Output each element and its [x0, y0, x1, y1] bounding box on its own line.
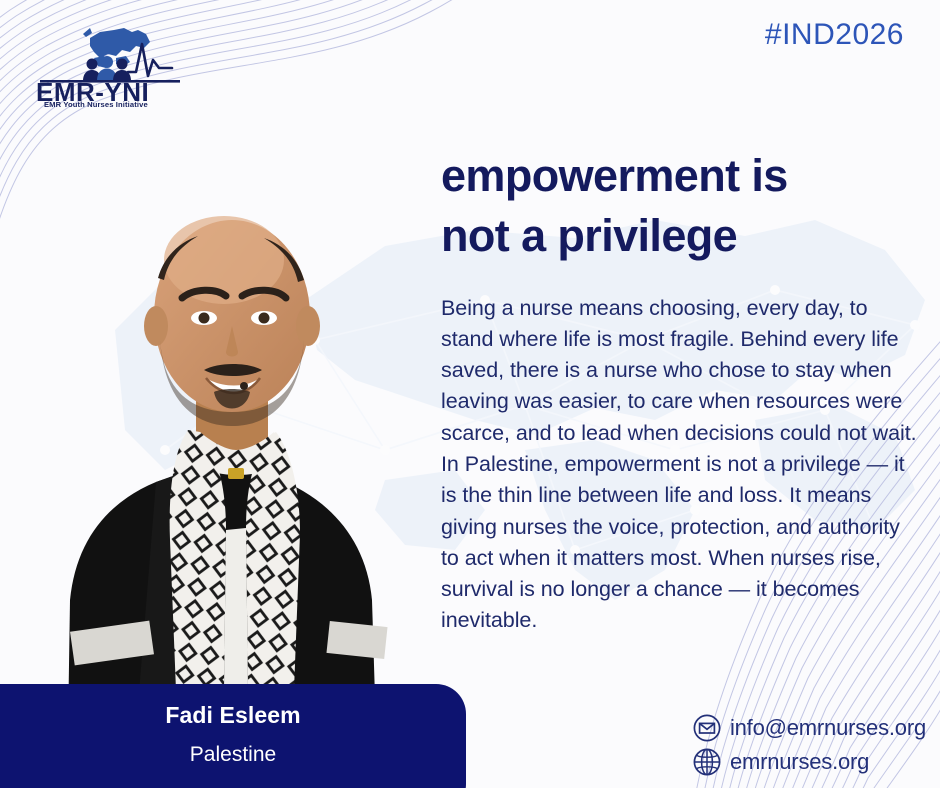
speaker-portrait — [28, 130, 448, 730]
contact-website-row[interactable]: emrnurses.org — [693, 748, 926, 776]
envelope-icon — [693, 714, 721, 742]
speaker-name-card: Fadi Esleem Palestine — [0, 684, 466, 788]
emr-yni-logo: EMR-YNI EMR Youth Nurses Initiative — [28, 24, 184, 110]
contact-website-text: emrnurses.org — [730, 749, 869, 775]
contact-block: info@emrnurses.org emrnurses.org — [693, 714, 926, 776]
contact-email-text: info@emrnurses.org — [730, 715, 926, 741]
logo-graphic: EMR-YNI — [28, 24, 184, 110]
campaign-hashtag: #IND2026 — [765, 18, 904, 52]
headline-line-1: empowerment is — [441, 146, 921, 206]
page-title: empowerment is not a privilege — [441, 146, 921, 267]
poster-canvas: EMR-YNI EMR Youth Nurses Initiative #IND… — [0, 0, 940, 788]
logo-tagline: EMR Youth Nurses Initiative — [44, 100, 148, 109]
message-column: empowerment is not a privilege Being a n… — [441, 146, 921, 637]
speaker-country: Palestine — [0, 743, 466, 767]
speaker-name: Fadi Esleem — [0, 702, 466, 729]
testimonial-body: Being a nurse means choosing, every day,… — [441, 293, 921, 637]
contact-email-row[interactable]: info@emrnurses.org — [693, 714, 926, 742]
globe-icon — [693, 748, 721, 776]
headline-line-2: not a privilege — [441, 206, 921, 266]
logo-heartbeat-icon — [128, 44, 172, 76]
